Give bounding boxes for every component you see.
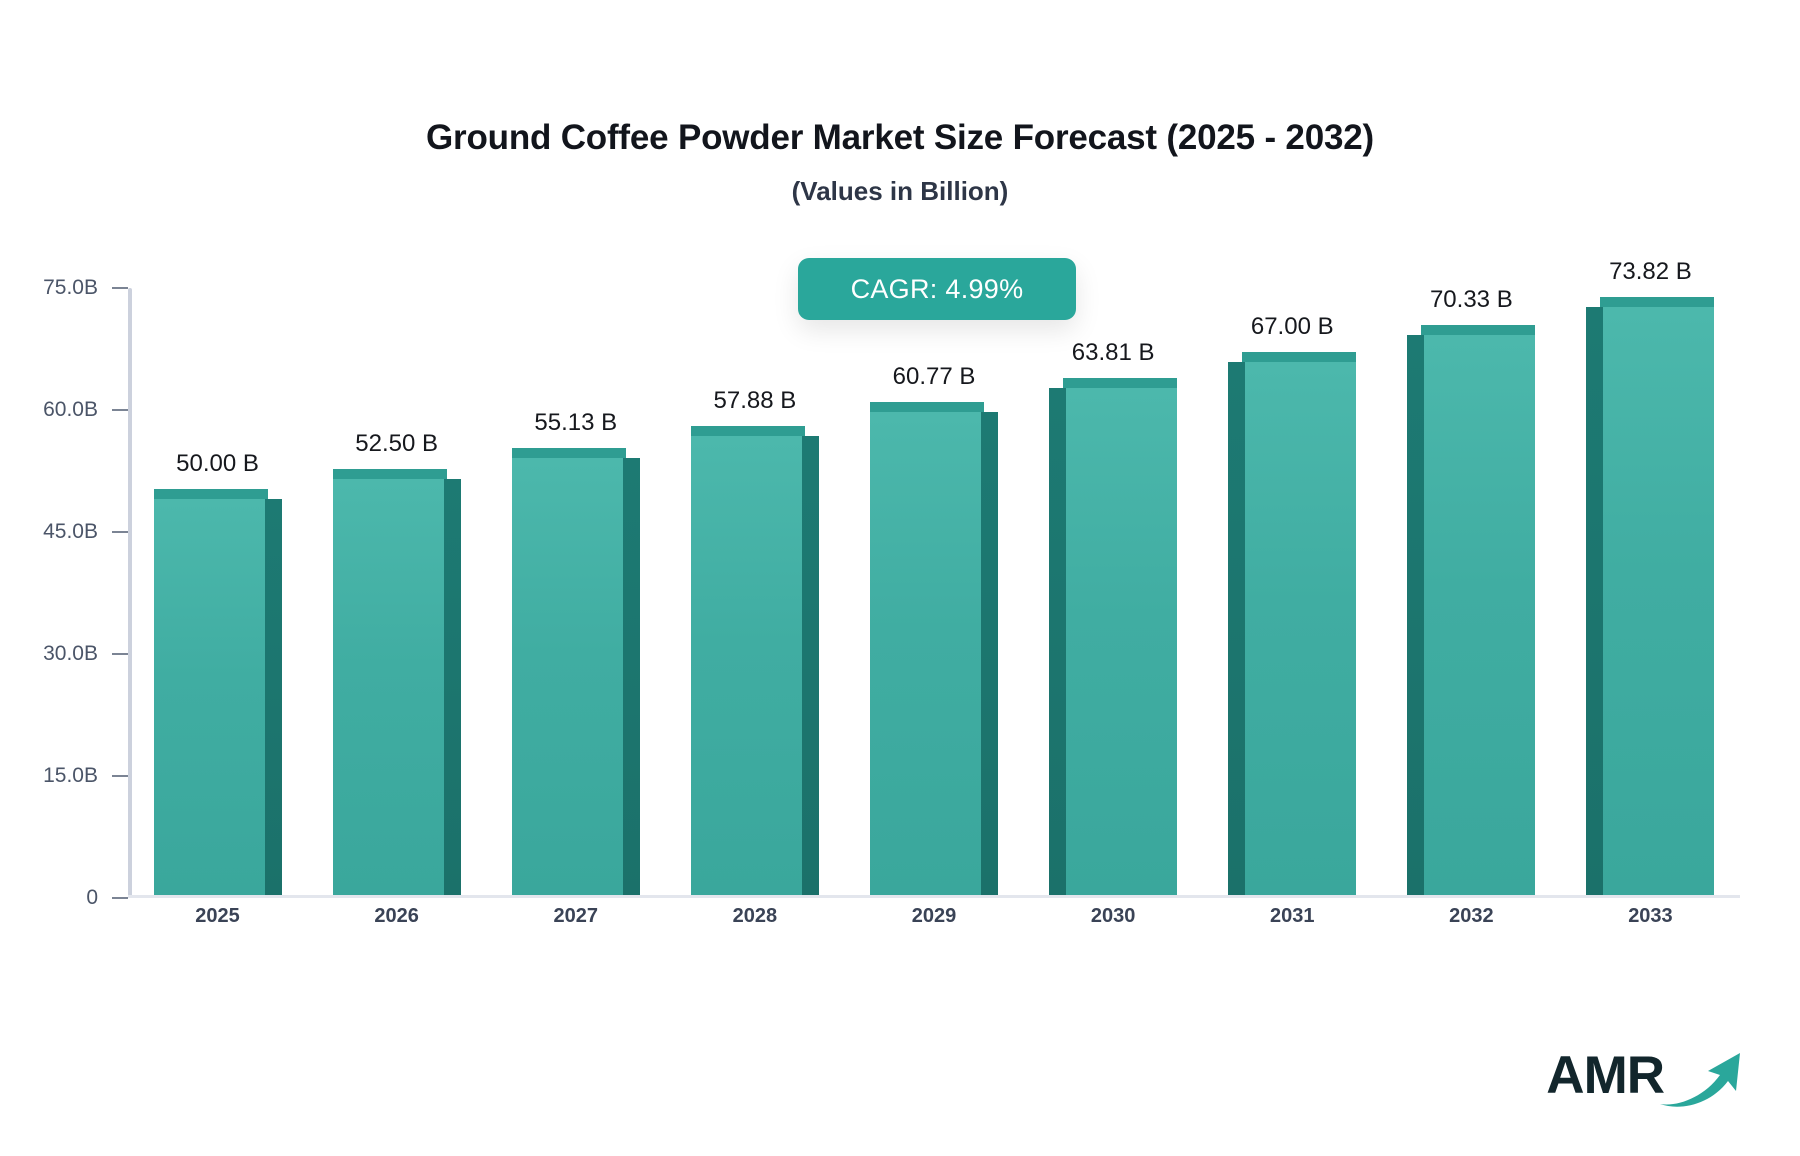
bar-column[interactable]: 60.77 B <box>870 288 998 895</box>
bar-top-face <box>870 402 984 412</box>
y-axis-tick-mark <box>112 409 128 411</box>
y-axis-tick-mark <box>112 653 128 655</box>
bar-column[interactable]: 70.33 B <box>1407 288 1535 895</box>
amr-logo: AMR <box>1546 1037 1744 1114</box>
bar-3d <box>1407 326 1535 895</box>
bar-top-face <box>1063 378 1177 388</box>
bar-column[interactable]: 63.81 B <box>1049 288 1177 895</box>
y-axis-tick-mark <box>112 775 128 777</box>
cagr-badge: CAGR: 4.99% <box>798 258 1076 320</box>
bar-3d <box>1049 379 1177 895</box>
bar-side-panel <box>444 479 461 895</box>
bar-face <box>333 479 444 895</box>
bar-top-face <box>333 469 447 479</box>
bar-column[interactable]: 55.13 B <box>512 288 640 895</box>
bar-value-label: 55.13 B <box>534 409 617 437</box>
x-axis-label: 2025 <box>195 905 240 928</box>
bar-value-label: 67.00 B <box>1251 313 1334 341</box>
bar-value-label: 50.00 B <box>176 450 259 478</box>
bar-side-panel <box>1228 362 1245 895</box>
trending-up-arrow-icon <box>1658 1047 1744 1114</box>
bar-top-face <box>1421 325 1535 335</box>
bar-face <box>1603 307 1714 895</box>
chart-page: Ground Coffee Powder Market Size Forecas… <box>0 0 1800 1156</box>
bar-column[interactable]: 67.00 B <box>1228 288 1356 895</box>
bar-value-label: 57.88 B <box>714 387 797 415</box>
bar-top-face <box>1600 297 1714 307</box>
bar-top-face <box>1242 352 1356 362</box>
bar-face <box>1245 362 1356 895</box>
logo-text: AMR <box>1546 1049 1664 1102</box>
bar-series: 50.00 B52.50 B55.13 B57.88 B60.77 B63.81… <box>128 288 1740 895</box>
bar-value-label: 60.77 B <box>893 363 976 391</box>
bar-top-face <box>512 448 626 458</box>
bar-3d <box>691 427 819 895</box>
bar-face <box>154 499 265 895</box>
bar-3d <box>512 449 640 895</box>
bar-side-panel <box>981 412 998 895</box>
bar-face <box>1424 335 1535 895</box>
y-axis-tick-label: 45.0B <box>24 520 98 544</box>
x-axis-label: 2028 <box>733 905 778 928</box>
x-axis-label: 2030 <box>1091 905 1136 928</box>
bar-top-face <box>154 489 268 499</box>
bar-side-panel <box>623 458 640 895</box>
x-axis-line <box>128 895 1740 898</box>
bar-side-panel <box>802 436 819 895</box>
y-axis-tick-label: 75.0B <box>24 276 98 300</box>
bar-face <box>870 412 981 895</box>
chart-subtitle: (Values in Billion) <box>0 176 1800 207</box>
bar-side-panel <box>265 499 282 895</box>
bar-value-label: 73.82 B <box>1609 258 1692 286</box>
bar-column[interactable]: 57.88 B <box>691 288 819 895</box>
bar-3d <box>154 490 282 895</box>
x-axis-labels: 202520262027202820292030203120322033 <box>128 905 1740 945</box>
cagr-badge-label: CAGR: 4.99% <box>851 274 1024 305</box>
bar-3d <box>1586 298 1714 895</box>
y-axis-tick-label: 0 <box>24 886 98 910</box>
bar-3d <box>870 403 998 895</box>
y-axis-tick-mark <box>112 897 128 899</box>
bar-value-label: 70.33 B <box>1430 286 1513 314</box>
x-axis-label: 2031 <box>1270 905 1315 928</box>
bar-3d <box>333 470 461 895</box>
chart-title: Ground Coffee Powder Market Size Forecas… <box>0 118 1800 158</box>
x-axis-label: 2029 <box>912 905 957 928</box>
plot-area: 015.0B30.0B45.0B60.0B75.0B 50.00 B52.50 … <box>128 288 1740 898</box>
bar-top-face <box>691 426 805 436</box>
bar-value-label: 63.81 B <box>1072 339 1155 367</box>
y-axis-tick: 0 <box>24 886 128 910</box>
bar-value-label: 52.50 B <box>355 430 438 458</box>
y-axis-tick: 45.0B <box>24 520 128 544</box>
x-axis-label: 2027 <box>554 905 599 928</box>
bar-face <box>1066 388 1177 895</box>
y-axis-tick-mark <box>112 287 128 289</box>
y-axis-tick: 15.0B <box>24 764 128 788</box>
bar-column[interactable]: 73.82 B <box>1586 288 1714 895</box>
y-axis-tick: 30.0B <box>24 642 128 666</box>
bar-face <box>691 436 802 895</box>
y-axis-tick-label: 15.0B <box>24 764 98 788</box>
bar-face <box>512 458 623 895</box>
y-axis-tick: 60.0B <box>24 398 128 422</box>
y-axis-tick-label: 30.0B <box>24 642 98 666</box>
bar-column[interactable]: 50.00 B <box>154 288 282 895</box>
bar-side-panel <box>1049 388 1066 895</box>
bar-3d <box>1228 353 1356 895</box>
bar-side-panel <box>1586 307 1603 895</box>
x-axis-label: 2033 <box>1628 905 1673 928</box>
y-axis-tick-mark <box>112 531 128 533</box>
y-axis-tick-label: 60.0B <box>24 398 98 422</box>
x-axis-label: 2032 <box>1449 905 1494 928</box>
y-axis-tick: 75.0B <box>24 276 128 300</box>
x-axis-label: 2026 <box>374 905 419 928</box>
bar-column[interactable]: 52.50 B <box>333 288 461 895</box>
bar-side-panel <box>1407 335 1424 895</box>
